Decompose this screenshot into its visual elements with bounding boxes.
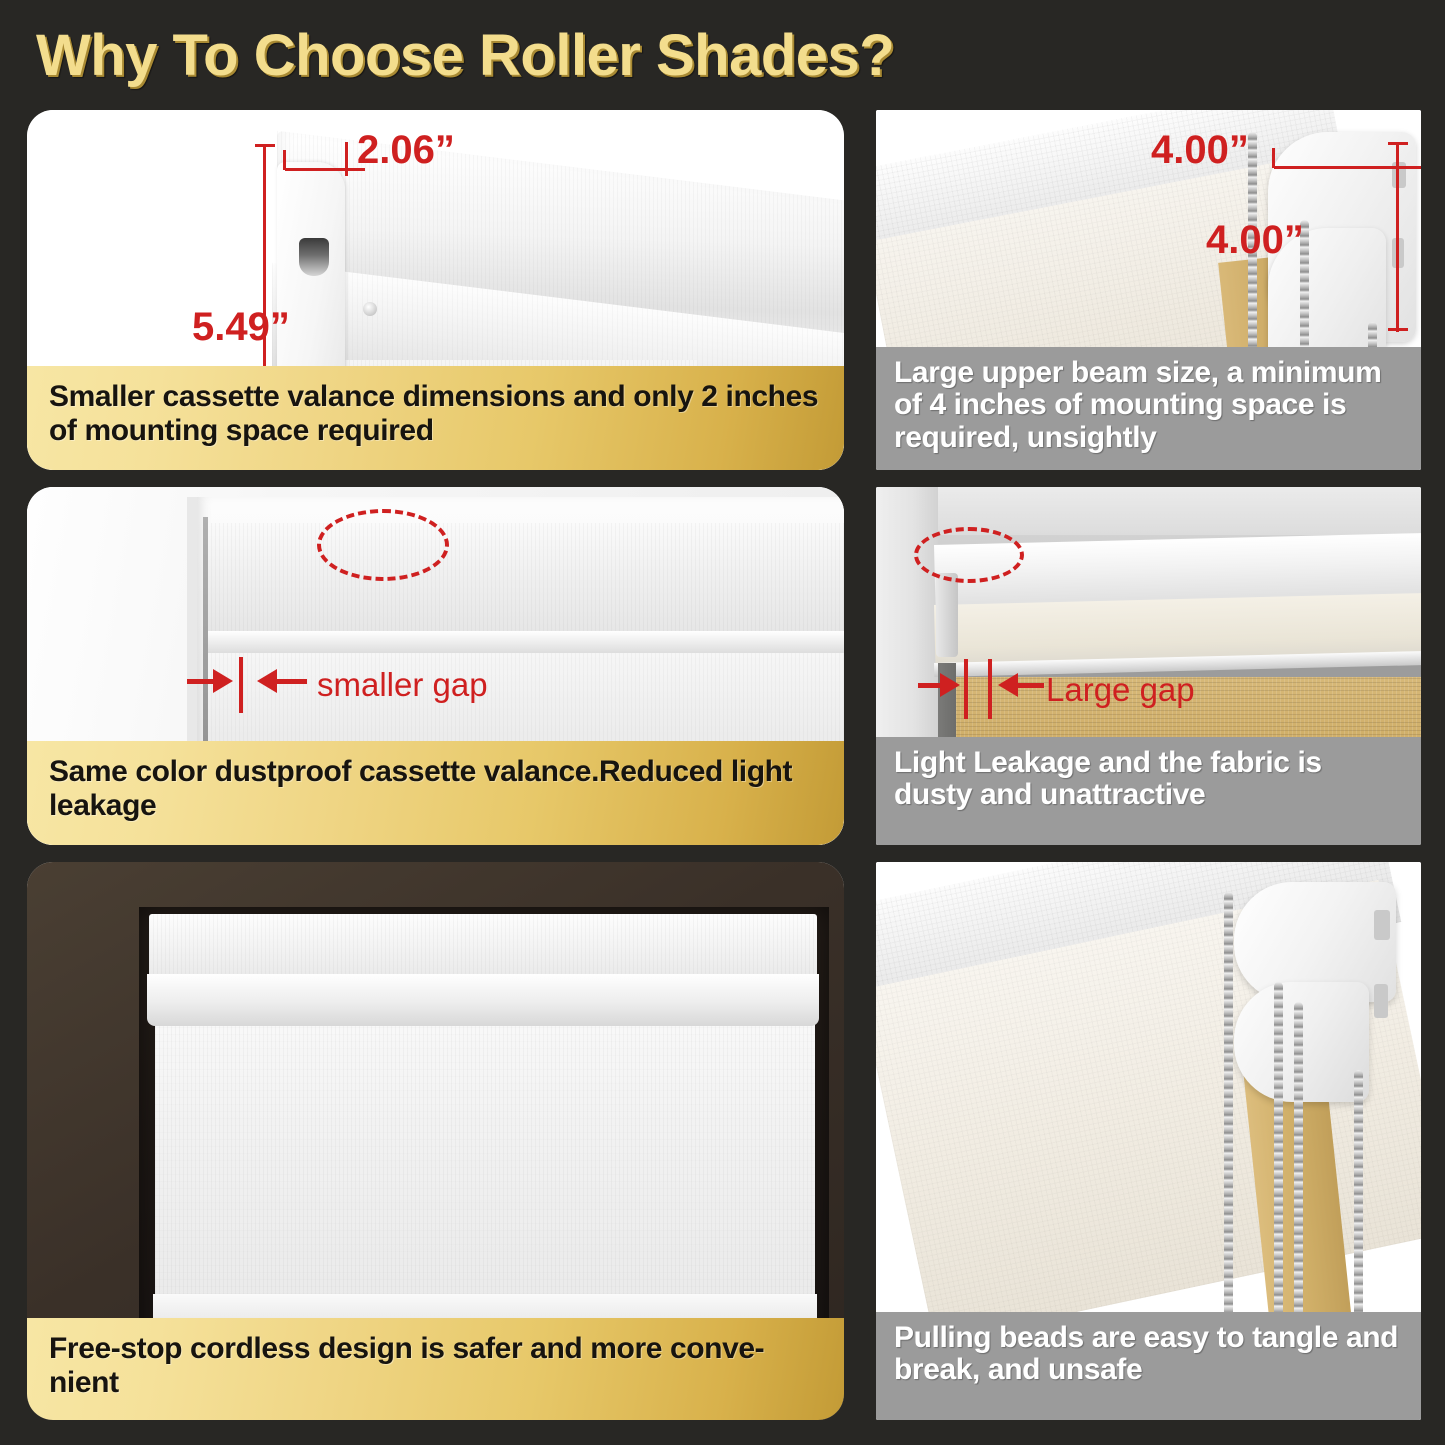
arrow-left-icon xyxy=(998,673,1018,697)
dimension-label-width: 4.00” xyxy=(1151,128,1249,173)
dimension-label-height: 5.49” xyxy=(192,305,290,350)
dim-tick-top xyxy=(255,144,275,147)
valance-slot xyxy=(299,238,329,276)
panel-cordless-design: Free-stop cordless design is safer and m… xyxy=(27,862,844,1420)
bracket-notch-2 xyxy=(1374,984,1388,1018)
arrow-tail-right xyxy=(1018,683,1044,688)
panel-large-upper-beam: 4.00” 4.00” Large upper beam size, a min… xyxy=(876,110,1421,470)
bead-chain-3 xyxy=(1294,1002,1303,1332)
blind-upper-section xyxy=(207,523,844,633)
dimension-label-width: 2.06” xyxy=(357,128,455,173)
dim-tick-top xyxy=(1388,142,1408,145)
cassette-valance-lip xyxy=(147,974,819,1026)
panel-6-caption: Pulling beads are easy to tangle and bre… xyxy=(876,1312,1421,1420)
dim-tick-left xyxy=(1272,148,1275,168)
panel-3-caption: Same color dustproof cassette valance.Re… xyxy=(27,741,844,845)
panel-light-leakage: Large gap Light Leakage and the fabric i… xyxy=(876,487,1421,845)
arrow-left-icon xyxy=(257,669,277,693)
roller-shade-fabric xyxy=(155,1024,815,1329)
bracket-notch-1 xyxy=(1374,910,1390,940)
dim-line-height xyxy=(1396,142,1399,332)
panel-5-caption: Free-stop cordless design is safer and m… xyxy=(27,1318,844,1420)
dimension-label-height: 4.00” xyxy=(1206,218,1304,263)
bead-chain-4 xyxy=(1354,1070,1363,1330)
bead-chain-1 xyxy=(1224,892,1233,1322)
gap-indicator-line-2 xyxy=(988,659,992,719)
panel-1-caption: Smaller cassette valance dimensions and … xyxy=(27,366,844,470)
panel-smaller-cassette: 2.06” 5.49” Smaller cassette valance dim… xyxy=(27,110,844,470)
gap-indicator-line-1 xyxy=(964,659,968,719)
panel-4-caption: Light Leakage and the fabric is dusty an… xyxy=(876,737,1421,845)
valance-screw-upper xyxy=(363,302,377,316)
dim-line-width xyxy=(285,168,365,171)
panel-pulling-beads: Pulling beads are easy to tangle and bre… xyxy=(876,862,1421,1420)
dim-tick-bottom xyxy=(1388,328,1408,331)
panel-dustproof-cassette: smaller gap Same color dustproof cassett… xyxy=(27,487,844,845)
arrow-right-icon xyxy=(940,673,960,697)
gap-label: Large gap xyxy=(1046,671,1195,709)
arrow-right-icon xyxy=(213,669,233,693)
infographic-page: Why To Choose Roller Shades? 2.06” 5.49”… xyxy=(0,0,1445,1445)
arrow-tail-left xyxy=(918,683,940,688)
gap-indicator-line xyxy=(239,657,243,713)
arrow-tail-right xyxy=(277,679,307,684)
highlight-circle-icon xyxy=(317,509,449,581)
page-title: Why To Choose Roller Shades? xyxy=(36,20,1036,92)
arrow-tail-left xyxy=(187,679,213,684)
dim-tick-left xyxy=(283,150,286,170)
dim-tick-right xyxy=(345,142,348,176)
blind-mid-rail xyxy=(205,631,844,653)
panel-2-caption: Large upper beam size, a minimum of 4 in… xyxy=(876,347,1421,470)
highlight-circle-icon xyxy=(914,527,1024,583)
gap-label: smaller gap xyxy=(317,666,488,704)
mounting-clip xyxy=(936,573,958,657)
bead-chain-2 xyxy=(1274,982,1283,1332)
